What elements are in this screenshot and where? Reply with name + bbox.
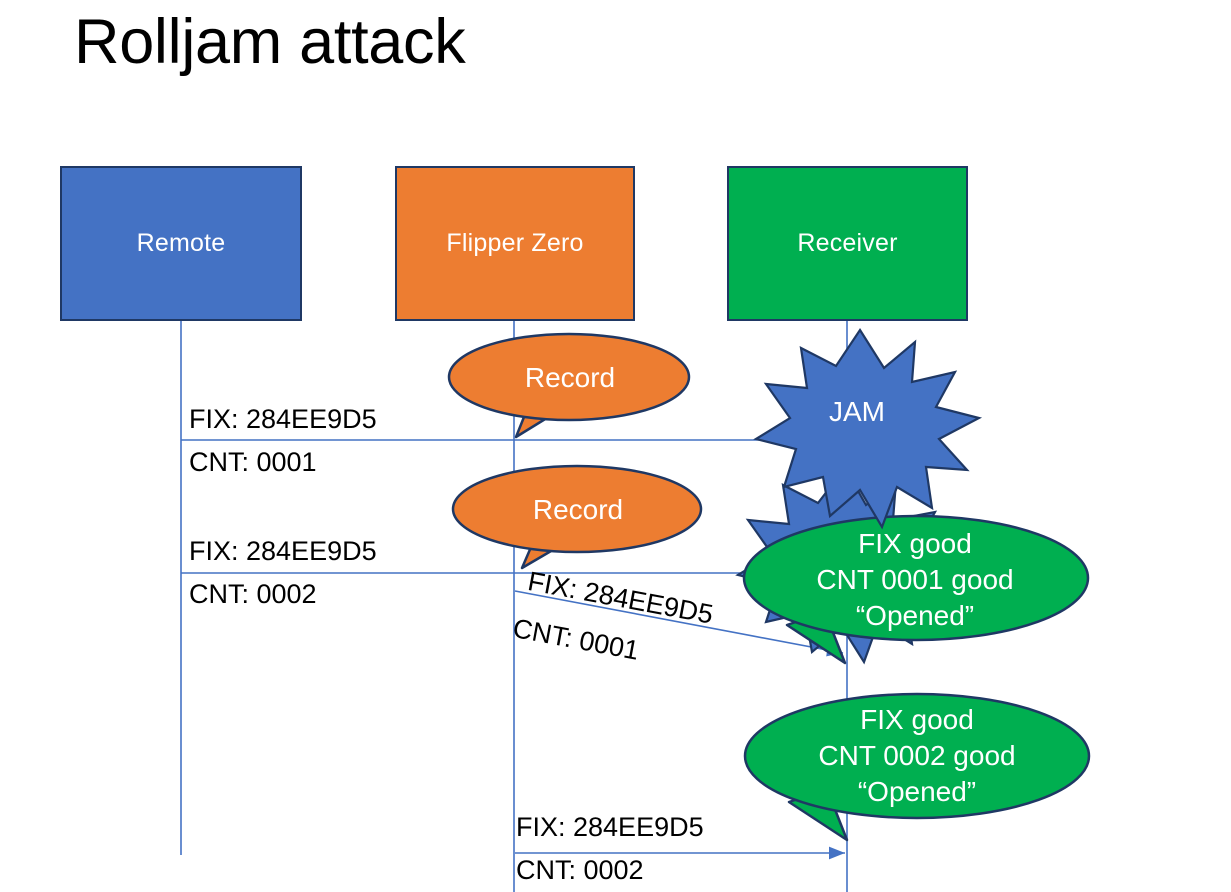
message-label-2-line1: FIX: 284EE9D5 xyxy=(189,538,377,565)
message-label-1-line1: FIX: 284EE9D5 xyxy=(189,406,377,433)
slide-canvas: Rolljam attack Remote Flipper Zero Recei… xyxy=(0,0,1231,892)
oval-callout-receiver-result-1 xyxy=(744,516,1088,663)
actor-label-remote: Remote xyxy=(137,229,226,258)
message-label-4-line1: FIX: 284EE9D5 xyxy=(516,814,704,841)
diagram-graphics xyxy=(0,0,1231,892)
actor-box-receiver[interactable]: Receiver xyxy=(727,166,968,321)
actor-label-flipper: Flipper Zero xyxy=(446,229,583,258)
message-label-1-line2: CNT: 0001 xyxy=(189,449,317,476)
message-label-4-line2: CNT: 0002 xyxy=(516,857,644,884)
message-label-2-line2: CNT: 0002 xyxy=(189,581,317,608)
oval-callout-record-1 xyxy=(449,334,689,437)
actor-box-flipper[interactable]: Flipper Zero xyxy=(395,166,635,321)
oval-callout-receiver-result-2 xyxy=(745,694,1089,840)
actor-box-remote[interactable]: Remote xyxy=(60,166,302,321)
actor-label-receiver: Receiver xyxy=(797,229,897,258)
page-title: Rolljam attack xyxy=(74,6,465,78)
oval-callout-record-2 xyxy=(453,466,701,568)
